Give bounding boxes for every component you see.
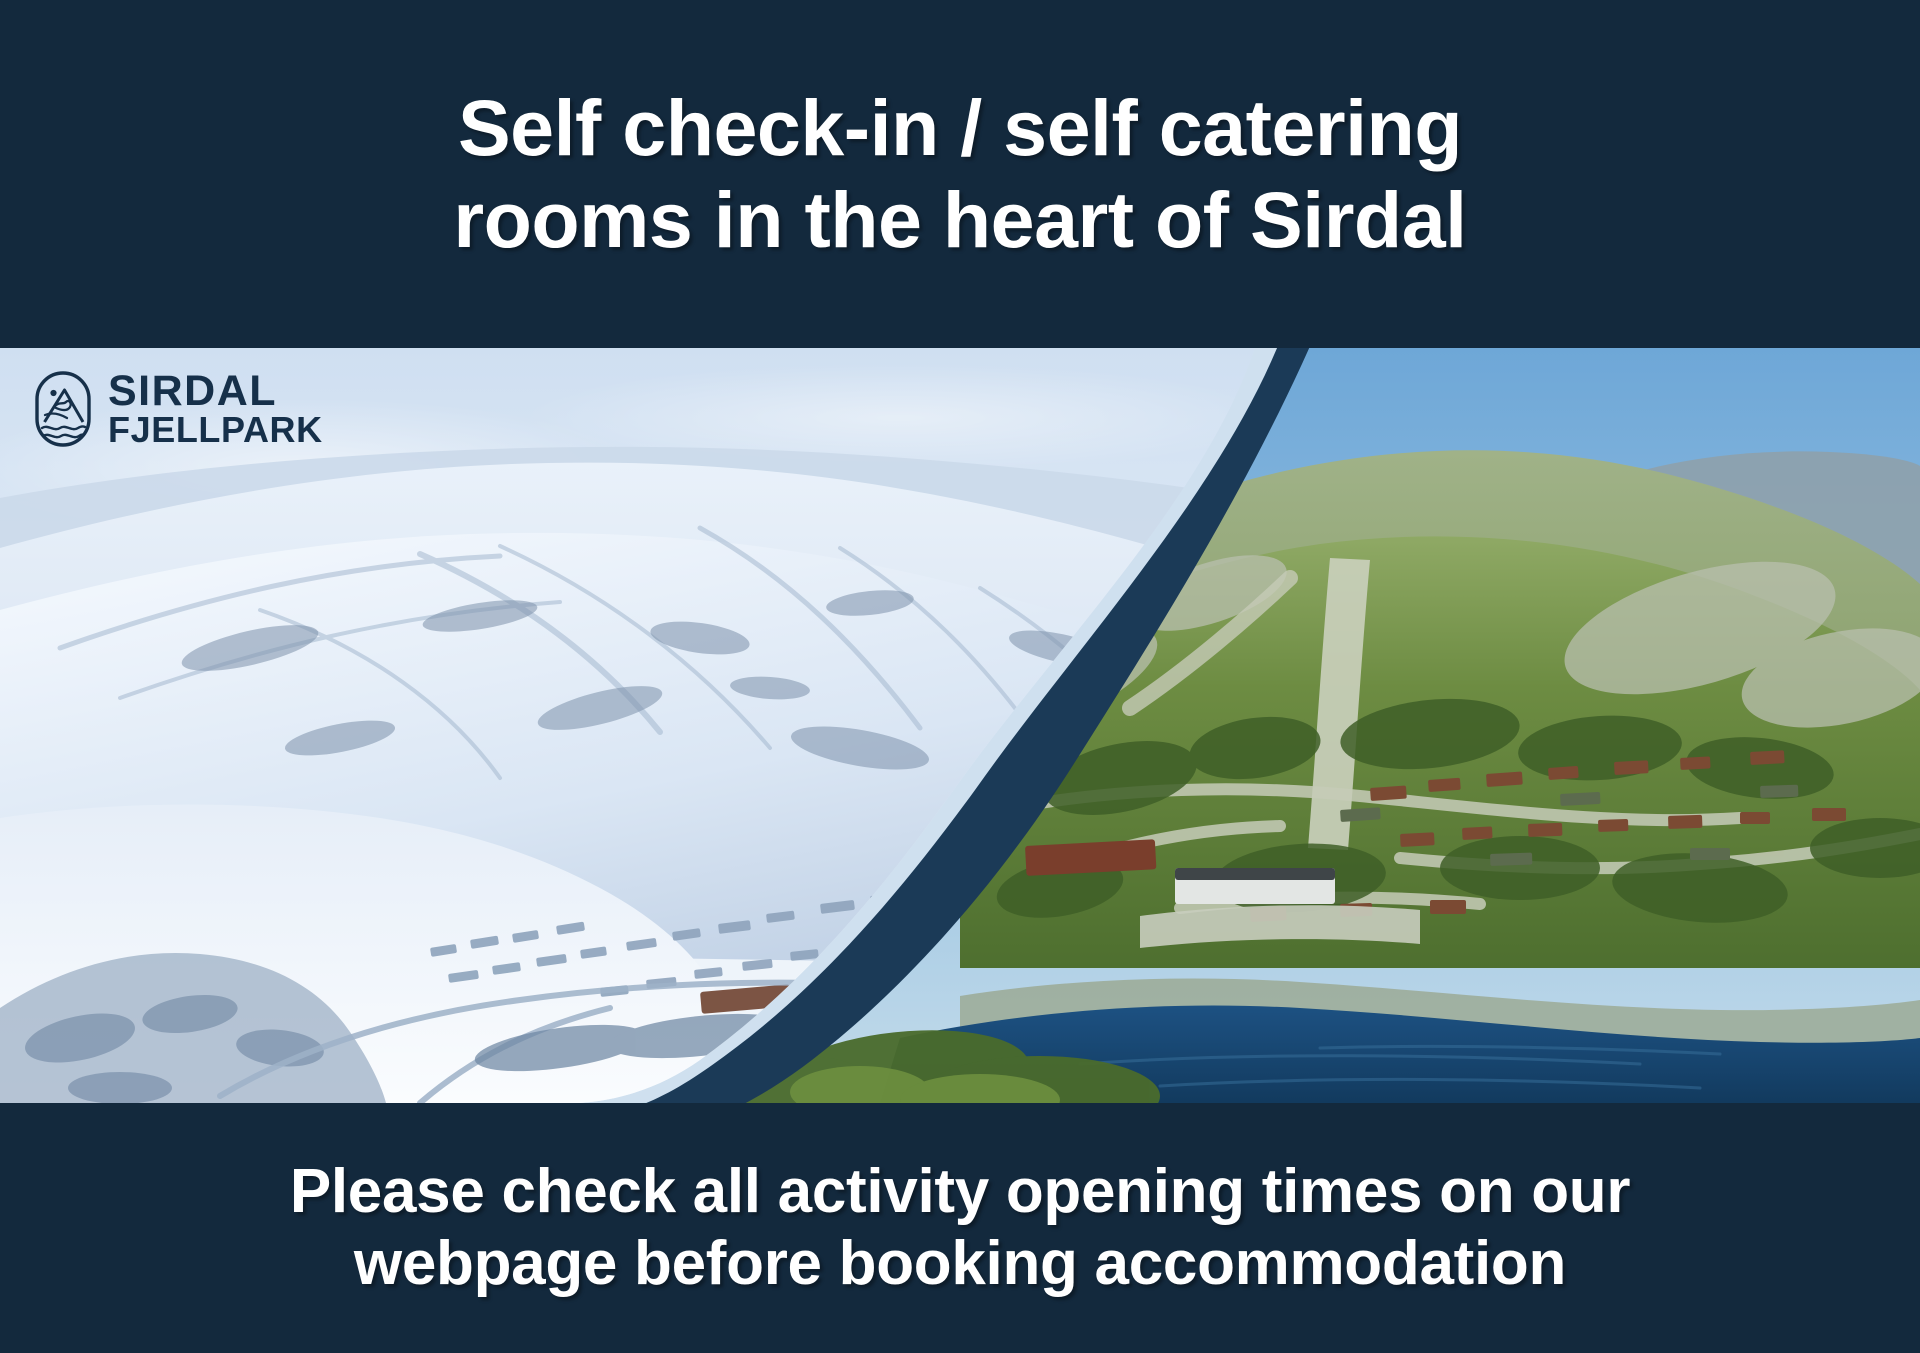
photo-collage: SIRDAL FJELLPARK [0,348,1920,1103]
notice-line-2: webpage before booking accommodation [290,1228,1630,1300]
sirdal-mountain-badge-icon [34,370,92,448]
notice-line-1: Please check all activity opening times … [290,1156,1630,1228]
footer-band: Please check all activity opening times … [0,1103,1920,1353]
promo-poster: Self check-in / self catering rooms in t… [0,0,1920,1353]
brand-wordmark: SIRDAL FJELLPARK [108,370,323,447]
header-band: Self check-in / self catering rooms in t… [0,0,1920,348]
brand-name-secondary: FJELLPARK [108,412,323,447]
brand-name-primary: SIRDAL [108,370,323,412]
page-title: Self check-in / self catering rooms in t… [453,82,1466,265]
headline-line-1: Self check-in / self catering [453,82,1466,174]
notice-text: Please check all activity opening times … [290,1156,1630,1300]
brand-logo: SIRDAL FJELLPARK [34,370,323,448]
collage-canvas [0,348,1920,1103]
headline-line-2: rooms in the heart of Sirdal [453,174,1466,266]
